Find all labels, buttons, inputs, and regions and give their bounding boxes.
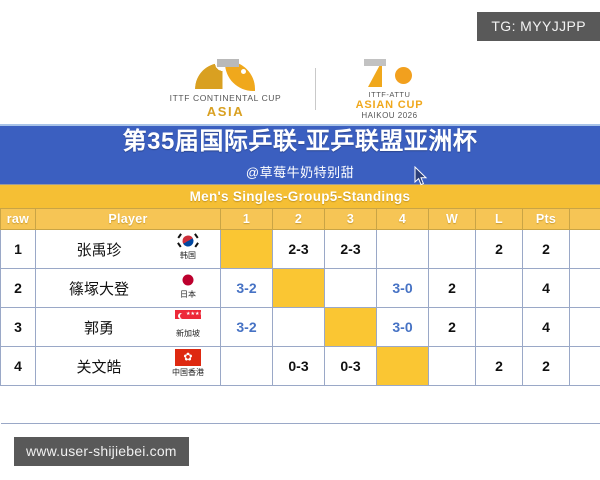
col-header-player: Player bbox=[36, 209, 221, 230]
match-score: 3-0 bbox=[392, 280, 412, 296]
col-header-3: 3 bbox=[325, 209, 377, 230]
table-filler-row bbox=[1, 386, 600, 424]
cell-player[interactable]: 关文皓 ✿ 中国香港 bbox=[36, 347, 221, 386]
col-header-1: 1 bbox=[221, 209, 273, 230]
flag-jp-icon bbox=[175, 271, 201, 288]
cell-losses bbox=[476, 308, 523, 347]
cell-match-4[interactable]: 3-0 bbox=[377, 308, 429, 347]
cell-player[interactable]: 篠塚大登 日本 bbox=[36, 269, 221, 308]
continental-cup-line2: ASIA bbox=[207, 104, 244, 119]
cell-wins: 2 bbox=[429, 308, 476, 347]
cell-rank bbox=[570, 347, 600, 386]
cell-player[interactable]: 郭勇 ★★★★★ 新加坡 bbox=[36, 308, 221, 347]
ittf-continental-cup-logo: ITTF CONTINENTAL CUP ASIA bbox=[151, 59, 301, 119]
cell-wins bbox=[429, 347, 476, 386]
standings-table: raw Player 1 2 3 4 W L Pts Ra 1 张禹珍 bbox=[0, 208, 600, 424]
player-name: 张禹珍 bbox=[36, 230, 162, 268]
player-name: 郭勇 bbox=[36, 308, 162, 346]
nation-block: 日本 bbox=[162, 271, 214, 300]
cell-match-3[interactable]: 2-3 bbox=[325, 230, 377, 269]
standings-page: TG: MYYJJPP ITTF CONTINENTAL CUP ASIA IT… bbox=[0, 0, 600, 480]
table-row[interactable]: 3 郭勇 ★★★★★ 新加坡 3-23-024 bbox=[1, 308, 600, 347]
table-row[interactable]: 1 张禹珍 韩国 2-32-322 bbox=[1, 230, 600, 269]
nation-label: 韩国 bbox=[180, 250, 196, 261]
cell-self-4 bbox=[377, 347, 429, 386]
match-score: 0-3 bbox=[288, 358, 308, 374]
cell-match-4[interactable]: 3-0 bbox=[377, 269, 429, 308]
cell-draw: 2 bbox=[1, 269, 36, 308]
nation-block: 韩国 bbox=[162, 232, 214, 261]
cell-rank bbox=[570, 308, 600, 347]
group-band: Men's Singles-Group5-Standings bbox=[0, 184, 600, 208]
cell-self-3 bbox=[325, 308, 377, 347]
cell-losses bbox=[476, 269, 523, 308]
match-score: 2-3 bbox=[288, 241, 308, 257]
continental-cup-mark-icon bbox=[193, 59, 259, 89]
asian-cup-line2: ASIAN CUP bbox=[356, 99, 424, 111]
tg-watermark-badge: TG: MYYJJPP bbox=[477, 12, 600, 41]
match-score: 3-2 bbox=[236, 280, 256, 296]
asian-cup-line3: HAIKOU 2026 bbox=[361, 111, 417, 120]
match-score: 0-3 bbox=[340, 358, 360, 374]
table-row[interactable]: 4 关文皓 ✿ 中国香港 0-30-322 bbox=[1, 347, 600, 386]
standings-table-head: raw Player 1 2 3 4 W L Pts Ra bbox=[1, 209, 600, 230]
standings-table-wrap: raw Player 1 2 3 4 W L Pts Ra 1 张禹珍 bbox=[0, 208, 600, 424]
flag-kr-icon bbox=[175, 232, 201, 249]
cell-match-1[interactable]: 3-2 bbox=[221, 308, 273, 347]
asian-cup-line1: ITTF-ATTU bbox=[369, 90, 411, 99]
cell-match-2[interactable]: 0-3 bbox=[273, 347, 325, 386]
mouse-cursor-icon bbox=[414, 166, 428, 186]
nation-label: 新加坡 bbox=[176, 328, 200, 339]
nation-label: 中国香港 bbox=[172, 367, 204, 378]
col-header-pts: Pts bbox=[523, 209, 570, 230]
match-score: 3-2 bbox=[236, 319, 256, 335]
cell-match-4[interactable] bbox=[377, 230, 429, 269]
cell-points: 4 bbox=[523, 308, 570, 347]
ittf-attu-asian-cup-logo: ITTF-ATTU ASIAN CUP HAIKOU 2026 bbox=[330, 59, 450, 120]
nation-block: ★★★★★ 新加坡 bbox=[162, 310, 214, 339]
cell-draw: 1 bbox=[1, 230, 36, 269]
logo-divider bbox=[315, 68, 316, 110]
cell-player[interactable]: 张禹珍 韩国 bbox=[36, 230, 221, 269]
cell-points: 2 bbox=[523, 230, 570, 269]
header-row: raw Player 1 2 3 4 W L Pts Ra bbox=[1, 209, 600, 230]
title-band: 第35届国际乒联-亚乒联盟亚洲杯 @草莓牛奶特别甜 bbox=[0, 124, 600, 184]
cell-self-1 bbox=[221, 230, 273, 269]
cell-match-2[interactable]: 2-3 bbox=[273, 230, 325, 269]
flag-sg-icon: ★★★★★ bbox=[175, 310, 201, 327]
col-header-rank: Ra bbox=[570, 209, 600, 230]
cell-draw: 3 bbox=[1, 308, 36, 347]
col-header-l: L bbox=[476, 209, 523, 230]
player-name: 篠塚大登 bbox=[36, 269, 162, 307]
player-name: 关文皓 bbox=[36, 347, 162, 385]
site-watermark: www.user-shijiebei.com bbox=[14, 437, 189, 466]
match-score: 3-0 bbox=[392, 319, 412, 335]
cell-points: 4 bbox=[523, 269, 570, 308]
page-title: 第35届国际乒联-亚乒联盟亚洲杯 bbox=[123, 130, 478, 154]
cell-losses: 2 bbox=[476, 347, 523, 386]
cell-wins bbox=[429, 230, 476, 269]
cell-losses: 2 bbox=[476, 230, 523, 269]
cell-match-3[interactable]: 0-3 bbox=[325, 347, 377, 386]
cell-match-1[interactable]: 3-2 bbox=[221, 269, 273, 308]
cell-rank bbox=[570, 230, 600, 269]
standings-table-body: 1 张禹珍 韩国 2-32-3222 篠塚大登 日本 3-23-0243 郭勇 bbox=[1, 230, 600, 424]
page-subtitle: @草莓牛奶特别甜 bbox=[246, 162, 354, 181]
cell-draw: 4 bbox=[1, 347, 36, 386]
col-header-2: 2 bbox=[273, 209, 325, 230]
col-header-w: W bbox=[429, 209, 476, 230]
logo-strip: ITTF CONTINENTAL CUP ASIA ITTF-ATTU ASIA… bbox=[0, 58, 600, 120]
match-score: 2-3 bbox=[340, 241, 360, 257]
cell-match-3[interactable] bbox=[325, 269, 377, 308]
col-header-draw: raw bbox=[1, 209, 36, 230]
group-band-label: Men's Singles-Group5-Standings bbox=[190, 189, 411, 204]
col-header-4: 4 bbox=[377, 209, 429, 230]
filler-cell bbox=[1, 386, 600, 424]
cell-wins: 2 bbox=[429, 269, 476, 308]
cell-points: 2 bbox=[523, 347, 570, 386]
flag-hk-icon: ✿ bbox=[175, 349, 201, 366]
asian-cup-mark-icon bbox=[362, 59, 418, 87]
continental-cup-line1: ITTF CONTINENTAL CUP bbox=[170, 93, 282, 103]
nation-label: 日本 bbox=[180, 289, 196, 300]
cell-rank bbox=[570, 269, 600, 308]
table-row[interactable]: 2 篠塚大登 日本 3-23-024 bbox=[1, 269, 600, 308]
cell-match-1[interactable] bbox=[221, 347, 273, 386]
cell-self-2 bbox=[273, 269, 325, 308]
nation-block: ✿ 中国香港 bbox=[162, 349, 214, 378]
cell-match-2[interactable] bbox=[273, 308, 325, 347]
